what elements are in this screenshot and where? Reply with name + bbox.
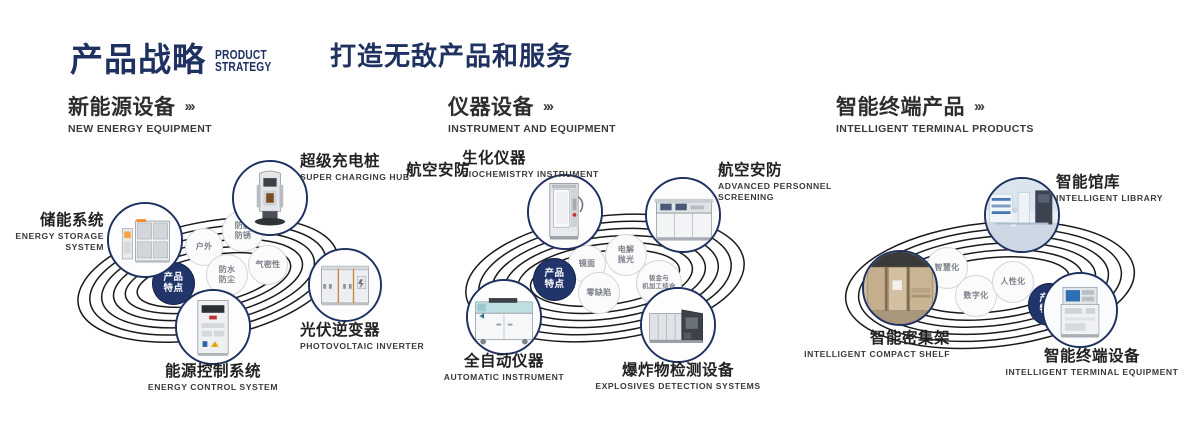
node-title-en: INTELLIGENT COMPACT SHELF bbox=[790, 349, 950, 360]
compact-shelf-icon bbox=[864, 252, 936, 324]
section-title-en-2: INSTRUMENT AND EQUIPMENT bbox=[448, 123, 616, 135]
node-title-cn: 智能密集架 bbox=[790, 330, 950, 347]
node-caption-compact-shelf: 智能密集架 INTELLIGENT COMPACT SHELF bbox=[790, 330, 950, 360]
node-caption-energy-control-system: 能源控制系统 ENERGY CONTROL SYSTEM bbox=[118, 363, 308, 393]
feature-label: 户外 bbox=[196, 242, 213, 252]
cluster-instrument: 镜面 电解 抛光 零缺陷 钣金与 机加工结合 产品 特点 bbox=[400, 150, 800, 415]
section-title-en-3: INTELLIGENT TERMINAL PRODUCTS bbox=[836, 123, 1034, 135]
page-title-en: PRODUCT STRATEGY bbox=[215, 49, 271, 75]
node-title-en: AUTOMATIC INSTRUMENT bbox=[424, 372, 584, 383]
feature-label: 防尘 bbox=[219, 275, 236, 285]
cluster-new-energy: 户外 防腐 防锈 气密性 防水 防尘 产品 特点 bbox=[0, 150, 400, 415]
inverter-cabinet-icon bbox=[310, 250, 380, 320]
node-title-cn: 储能系统 bbox=[0, 212, 104, 229]
feature-bubble-airtight: 气密性 bbox=[248, 245, 288, 285]
page-title-cn: 产品战略 bbox=[70, 43, 206, 76]
node-circle-compact-shelf[interactable] bbox=[862, 250, 938, 326]
node-circle-terminal-equipment[interactable] bbox=[1042, 272, 1118, 348]
section-title-text-2: 仪器设备 bbox=[448, 96, 534, 119]
node-caption-explosives-detection: 爆炸物检测设备 EXPLOSIVES DETECTION SYSTEMS bbox=[578, 362, 778, 392]
node-caption-energy-storage: 储能系统 ENERGY STORAGE SYSTEM bbox=[0, 212, 104, 253]
node-title-cn: 智能终端设备 bbox=[984, 348, 1200, 365]
node-caption-automatic-instrument: 全自动仪器 AUTOMATIC INSTRUMENT bbox=[424, 353, 584, 383]
self-service-kiosk-icon bbox=[1044, 274, 1116, 346]
feature-bubble-digital: 数字化 bbox=[955, 275, 997, 317]
section-title-en-1: NEW ENERGY EQUIPMENT bbox=[68, 123, 212, 135]
section-title-cn-3: 智能终端产品 ››› bbox=[836, 96, 1034, 119]
node-title-en: INTELLIGENT LIBRARY bbox=[1056, 193, 1196, 204]
section-title-cn-1: 新能源设备 ››› bbox=[68, 96, 212, 119]
node-caption-terminal-equipment: 智能终端设备 INTELLIGENT TERMINAL EQUIPMENT bbox=[984, 348, 1200, 378]
chevron-right-icon: ››› bbox=[543, 99, 552, 116]
node-title-cn: 能源控制系统 bbox=[118, 363, 308, 380]
chevron-right-icon: ››› bbox=[974, 99, 983, 116]
feature-label: 钣金与 bbox=[649, 275, 669, 283]
page-title-en-line2: STRATEGY bbox=[215, 61, 271, 74]
node-circle-intelligent-library[interactable] bbox=[984, 177, 1060, 253]
badge-line-2: 特点 bbox=[544, 280, 564, 291]
section-title-cn-2: 仪器设备 ››› bbox=[448, 96, 616, 119]
battery-cabinet-icon bbox=[109, 204, 181, 276]
screening-machine-icon bbox=[647, 179, 719, 251]
node-title-en: ENERGY CONTROL SYSTEM bbox=[118, 382, 308, 393]
node-circle-personnel-screening[interactable] bbox=[645, 177, 721, 253]
overlay-title-cn: 航空安防 bbox=[406, 162, 526, 179]
feature-label: 电解 bbox=[618, 245, 635, 255]
node-circle-energy-control-system[interactable] bbox=[175, 289, 251, 365]
page-header: 产品战略 PRODUCT STRATEGY bbox=[70, 26, 284, 76]
section-heading-new-energy: 新能源设备 ››› NEW ENERGY EQUIPMENT bbox=[68, 96, 212, 135]
feature-label: 人性化 bbox=[1001, 277, 1026, 287]
section-title-text-3: 智能终端产品 bbox=[836, 96, 965, 119]
section-heading-intelligent-terminal: 智能终端产品 ››› INTELLIGENT TERMINAL PRODUCTS bbox=[836, 96, 1034, 135]
library-room-icon bbox=[986, 179, 1058, 251]
feature-bubble-zero-defect: 零缺陷 bbox=[578, 272, 620, 314]
chevron-right-icon: ››› bbox=[185, 99, 194, 116]
node-title-cn: 爆炸物检测设备 bbox=[578, 362, 778, 379]
node-circle-super-charging-hub[interactable] bbox=[232, 160, 308, 236]
charging-pile-icon bbox=[234, 162, 306, 234]
node-circle-automatic-instrument[interactable] bbox=[466, 279, 542, 355]
node-title-en: ENERGY STORAGE SYSTEM bbox=[0, 231, 104, 252]
cluster-intelligent-terminal: 智慧化 数字化 人性化 产品 特点 bbox=[800, 150, 1200, 415]
feature-label: 防水 bbox=[219, 265, 236, 275]
page-subtitle: 打造无敌产品和服务 bbox=[330, 36, 573, 73]
section-title-text-1: 新能源设备 bbox=[68, 96, 176, 119]
node-circle-explosives-detection[interactable] bbox=[640, 287, 716, 363]
node-circle-energy-storage[interactable] bbox=[107, 202, 183, 278]
automatic-instrument-icon bbox=[468, 281, 540, 353]
feature-label: 抛光 bbox=[618, 255, 635, 265]
explosives-detector-icon bbox=[642, 289, 714, 361]
page-title-en-line1: PRODUCT bbox=[215, 49, 271, 62]
overlay-label-aviation-security: 航空安防 bbox=[406, 162, 526, 179]
feature-label: 镜面 bbox=[579, 259, 596, 269]
biochemistry-analyzer-icon bbox=[529, 176, 601, 248]
feature-label: 数字化 bbox=[964, 291, 989, 301]
feature-bubble-humanized: 人性化 bbox=[992, 261, 1034, 303]
feature-label: 气密性 bbox=[256, 260, 281, 270]
node-circle-photovoltaic-inverter[interactable] bbox=[308, 248, 382, 322]
node-title-en: INTELLIGENT TERMINAL EQUIPMENT bbox=[984, 367, 1200, 378]
node-caption-intelligent-library: 智能馆库 INTELLIGENT LIBRARY bbox=[1056, 174, 1196, 204]
control-cabinet-icon bbox=[177, 291, 249, 363]
badge-line-1: 产品 bbox=[544, 269, 564, 280]
node-title-cn: 智能馆库 bbox=[1056, 174, 1196, 191]
product-strategy-infographic: 产品战略 PRODUCT STRATEGY 打造无敌产品和服务 新能源设备 ››… bbox=[0, 0, 1200, 422]
node-title-cn: 全自动仪器 bbox=[424, 353, 584, 370]
feature-label: 智慧化 bbox=[935, 263, 960, 273]
feature-label: 零缺陷 bbox=[587, 288, 612, 298]
node-title-en: EXPLOSIVES DETECTION SYSTEMS bbox=[578, 381, 778, 392]
section-heading-instrument: 仪器设备 ››› INSTRUMENT AND EQUIPMENT bbox=[448, 96, 616, 135]
node-circle-biochemistry-instrument[interactable] bbox=[527, 174, 603, 250]
